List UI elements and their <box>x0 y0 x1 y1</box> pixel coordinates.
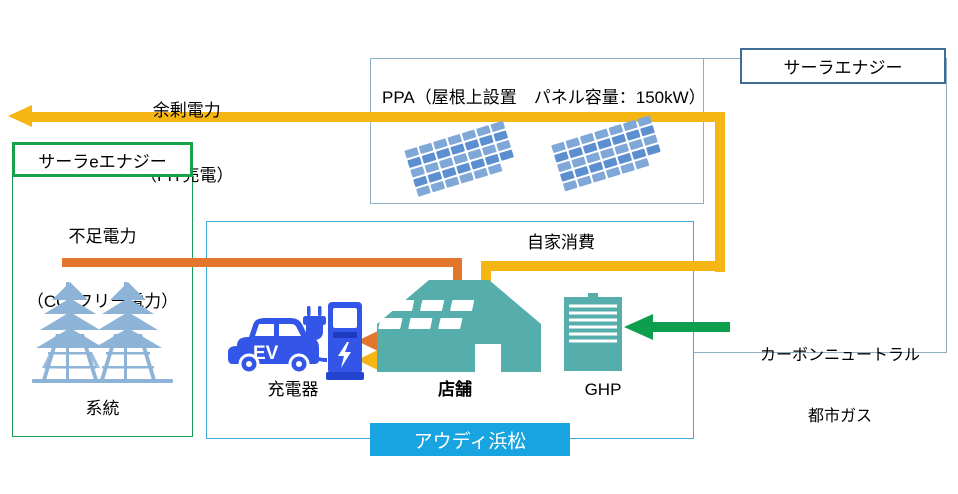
city-gas-label-line1: カーボンニュートラル <box>740 346 940 366</box>
self-consumption-label: 自家消費 <box>527 232 595 254</box>
audi-hamamatsu-banner-label: アウディ浜松 <box>370 426 570 453</box>
city-gas-arrowhead-icon <box>624 314 653 340</box>
saara-energy-header-label: サーラエナジー <box>742 54 944 79</box>
ppa-power-vertical-line <box>715 112 725 272</box>
ghp-unit-icon <box>562 293 624 373</box>
surplus-power-arrowhead-icon <box>8 105 32 127</box>
saara-e-energy-header-label: サーラeエナジー <box>15 147 190 172</box>
surplus-power-label-line1: 余剰電力 <box>140 100 234 122</box>
charger-label: 充電器 <box>238 379 348 401</box>
shortage-power-label-line1: 不足電力 <box>14 226 191 248</box>
solar-panel-array-icon-2 <box>550 112 675 194</box>
audi-hamamatsu-banner: アウディ浜松 <box>370 423 570 456</box>
self-consumption-line <box>481 261 725 271</box>
city-gas-line <box>652 322 730 332</box>
city-gas-label: カーボンニュートラル 都市ガス <box>740 305 940 469</box>
transmission-pylon-icon <box>30 278 175 393</box>
ppa-label: PPA（屋根上設置 パネル容量：150kW） <box>382 87 706 109</box>
ev-charger-station-icon <box>325 302 365 380</box>
ghp-label: GHP <box>548 379 658 401</box>
solar-panel-array-icon <box>403 118 523 198</box>
saara-energy-header-box: サーラエナジー <box>740 48 946 84</box>
diagram-canvas: サーラeエナジー サーラエナジー アウディ浜松 余剰電力 （FIT売電） 不足電… <box>0 0 958 494</box>
saara-e-energy-header-box: サーラeエナジー <box>12 142 193 177</box>
store-building-icon <box>375 278 543 374</box>
grid-label: 系統 <box>14 398 191 420</box>
store-label: 店舗 <box>400 379 510 401</box>
city-gas-label-line2: 都市ガス <box>740 407 940 427</box>
